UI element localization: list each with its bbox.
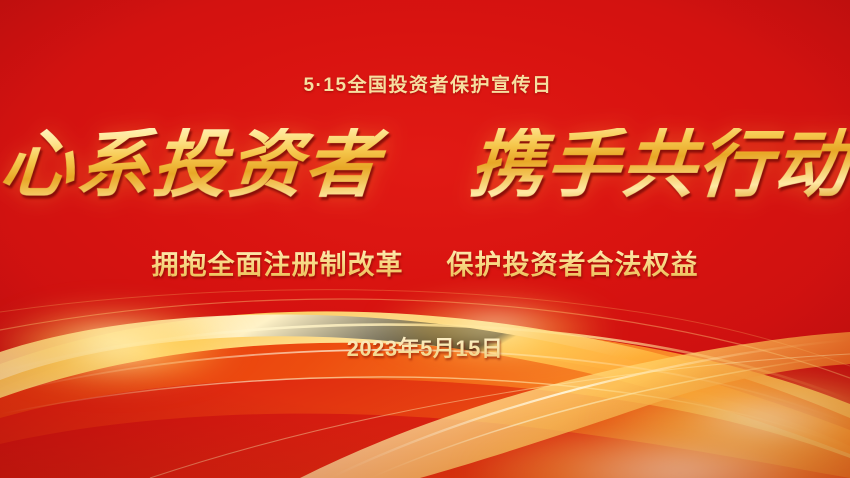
poster-content: 5·15全国投资者保护宣传日 心系投资者 携手共行动 拥抱全面注册制改革 保护投… bbox=[0, 0, 850, 478]
poster-kicker: 5·15全国投资者保护宣传日 bbox=[0, 70, 850, 97]
poster-banner: 5·15全国投资者保护宣传日 心系投资者 携手共行动 拥抱全面注册制改革 保护投… bbox=[0, 0, 850, 478]
poster-date: 2023年5月15日 bbox=[0, 331, 850, 363]
poster-headline: 心系投资者 携手共行动 bbox=[0, 128, 850, 202]
subtitle-part-left: 拥抱全面注册制改革 bbox=[151, 250, 403, 280]
headline-part-right: 携手共行动 bbox=[467, 122, 850, 208]
poster-subtitle: 拥抱全面注册制改革 保护投资者合法权益 bbox=[0, 243, 850, 282]
headline-part-left: 心系投资者 bbox=[0, 122, 383, 208]
subtitle-part-right: 保护投资者合法权益 bbox=[447, 250, 699, 280]
